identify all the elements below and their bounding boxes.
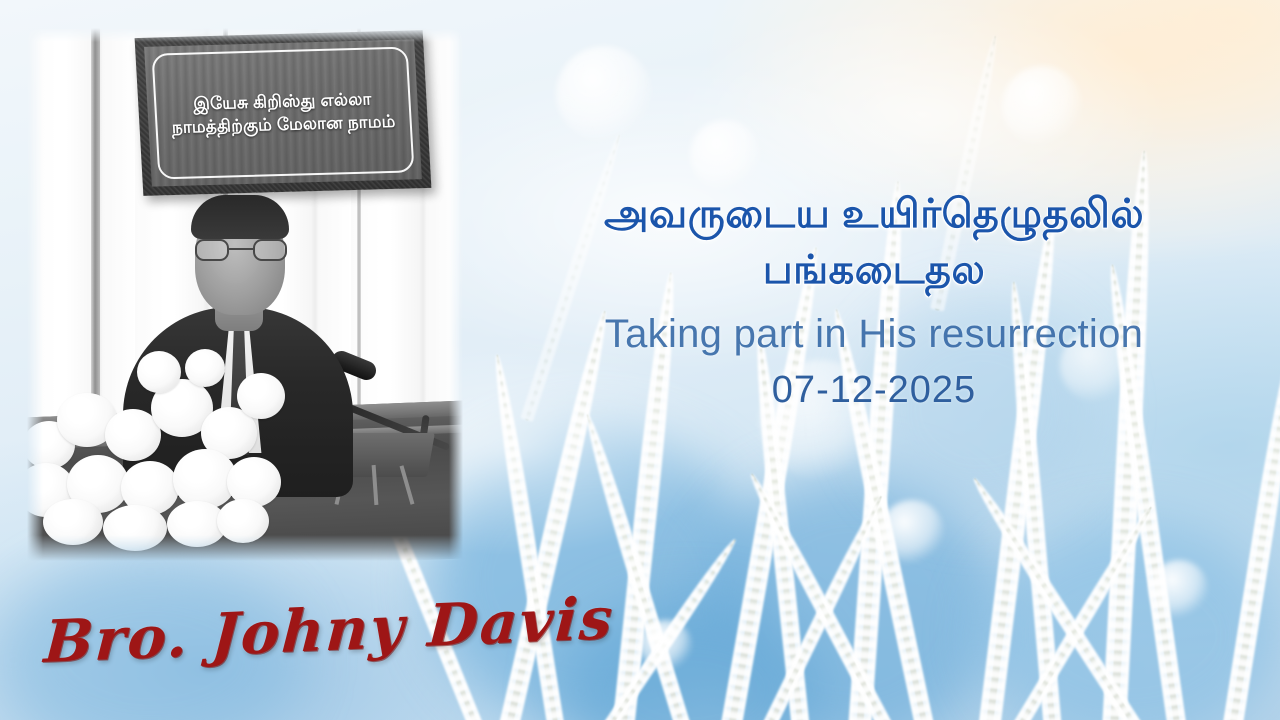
sign-text: இயேசு கிறிஸ்து எல்லா நாமத்திற்கும் மேலான… <box>147 86 420 140</box>
flower-arrangement <box>27 349 287 539</box>
bokeh-highlight <box>1002 66 1082 146</box>
title-english: Taking part in His resurrection <box>468 311 1280 358</box>
flower-petal <box>237 373 285 419</box>
bokeh-highlight <box>690 120 760 190</box>
bokeh-highlight <box>640 620 692 672</box>
title-text-block: அவருடைய உயிர்தெழுதலில் பங்கடைதல Taking p… <box>468 188 1280 412</box>
flower-petal <box>43 499 103 545</box>
glasses-lens <box>253 239 287 261</box>
hair <box>191 195 289 239</box>
title-tamil-line-2: பங்கடைதல <box>468 244 1280 298</box>
glasses-lens <box>195 239 229 261</box>
slide-canvas: இயேசு கிறிஸ்து எல்லா நாமத்திற்கும் மேலான… <box>0 0 1280 720</box>
flower-petal <box>217 499 269 543</box>
speaker-photo: இயேசு கிறிஸ்து எல்லா நாமத்திற்கும் மேலான… <box>27 28 463 561</box>
flower-petal <box>137 351 181 393</box>
title-tamil-line-1: அவருடைய உயிர்தெழுதலில் <box>468 188 1280 242</box>
flower-petal <box>103 505 167 551</box>
bokeh-highlight <box>1150 560 1208 618</box>
flower-petal <box>185 349 225 387</box>
bokeh-highlight <box>556 46 652 142</box>
sign-face: இயேசு கிறிஸ்து எல்லா நாமத்திற்கும் மேலான… <box>144 39 422 186</box>
bokeh-highlight <box>880 500 944 564</box>
glasses-icon <box>195 239 287 261</box>
sermon-date: 07-12-2025 <box>468 370 1280 412</box>
glasses-bridge <box>229 248 253 250</box>
